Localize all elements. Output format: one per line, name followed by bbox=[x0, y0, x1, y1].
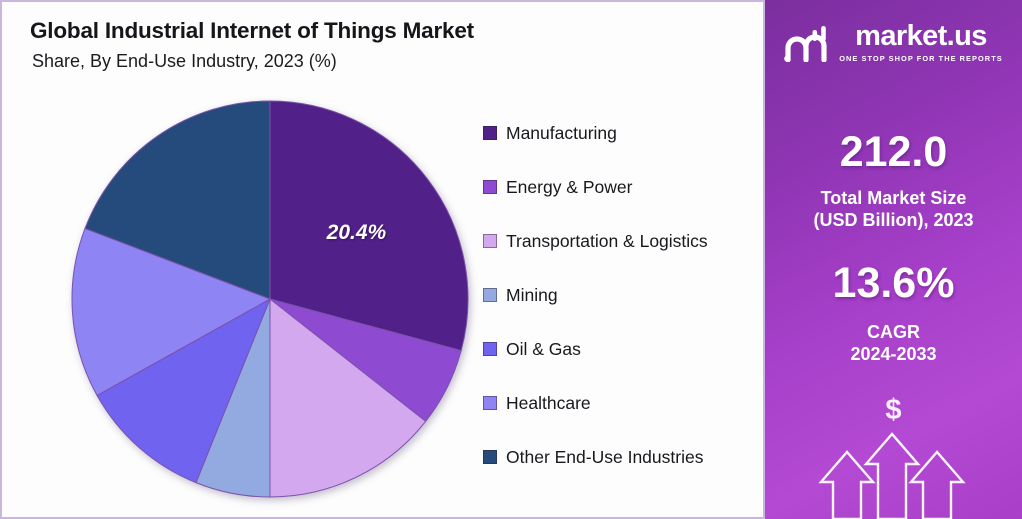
legend-item[interactable]: Transportation & Logistics bbox=[483, 214, 758, 268]
legend-item-label: Energy & Power bbox=[506, 177, 632, 198]
legend-item[interactable]: Mining bbox=[483, 268, 758, 322]
chart-subtitle: Share, By End-Use Industry, 2023 (%) bbox=[32, 51, 337, 72]
legend-swatch-icon bbox=[483, 180, 497, 194]
chart-legend: ManufacturingEnergy & PowerTransportatio… bbox=[483, 106, 758, 484]
legend-swatch-icon bbox=[483, 342, 497, 356]
logo-tagline: ONE STOP SHOP FOR THE REPORTS bbox=[839, 54, 1003, 63]
cagr-value: 13.6% bbox=[765, 262, 1022, 305]
legend-item[interactable]: Oil & Gas bbox=[483, 322, 758, 376]
pie-slice-group bbox=[72, 101, 468, 497]
cagr-caption-line1: CAGR bbox=[765, 322, 1022, 344]
legend-swatch-icon bbox=[483, 234, 497, 248]
legend-swatch-icon bbox=[483, 396, 497, 410]
cagr-caption-line2: 2024-2033 bbox=[765, 344, 1022, 366]
brand-logo: market.us ONE STOP SHOP FOR THE REPORTS bbox=[765, 22, 1022, 63]
market-size-caption: Total Market Size (USD Billion), 2023 bbox=[765, 188, 1022, 232]
logo-wordmark: market.us bbox=[855, 22, 987, 51]
logo-text-block: market.us ONE STOP SHOP FOR THE REPORTS bbox=[839, 22, 1003, 63]
cagr-caption: CAGR 2024-2033 bbox=[765, 322, 1022, 366]
market-size-value: 212.0 bbox=[765, 131, 1022, 174]
market-size-caption-line1: Total Market Size bbox=[765, 188, 1022, 210]
legend-item-label: Healthcare bbox=[506, 393, 591, 414]
legend-item-label: Transportation & Logistics bbox=[506, 231, 708, 252]
legend-item[interactable]: Manufacturing bbox=[483, 106, 758, 160]
legend-item[interactable]: Energy & Power bbox=[483, 160, 758, 214]
legend-item-label: Other End-Use Industries bbox=[506, 447, 703, 468]
legend-item[interactable]: Healthcare bbox=[483, 376, 758, 430]
market-us-logo-icon bbox=[784, 24, 830, 62]
infographic-root: Global Industrial Internet of Things Mar… bbox=[0, 0, 1022, 519]
legend-item-label: Manufacturing bbox=[506, 123, 617, 144]
legend-swatch-icon bbox=[483, 450, 497, 464]
chart-panel: Global Industrial Internet of Things Mar… bbox=[0, 0, 765, 519]
brand-panel: market.us ONE STOP SHOP FOR THE REPORTS … bbox=[765, 0, 1022, 519]
chart-title: Global Industrial Internet of Things Mar… bbox=[30, 18, 474, 44]
legend-item-label: Mining bbox=[506, 285, 558, 306]
growth-arrows-graphic: $ bbox=[765, 394, 1022, 519]
market-size-caption-line2: (USD Billion), 2023 bbox=[765, 210, 1022, 232]
legend-swatch-icon bbox=[483, 288, 497, 302]
pie-chart: 20.4% bbox=[70, 99, 470, 499]
legend-item-label: Oil & Gas bbox=[506, 339, 581, 360]
pie-chart-svg bbox=[70, 99, 470, 499]
up-arrows-icon bbox=[765, 394, 1022, 519]
legend-item[interactable]: Other End-Use Industries bbox=[483, 430, 758, 484]
legend-swatch-icon bbox=[483, 126, 497, 140]
